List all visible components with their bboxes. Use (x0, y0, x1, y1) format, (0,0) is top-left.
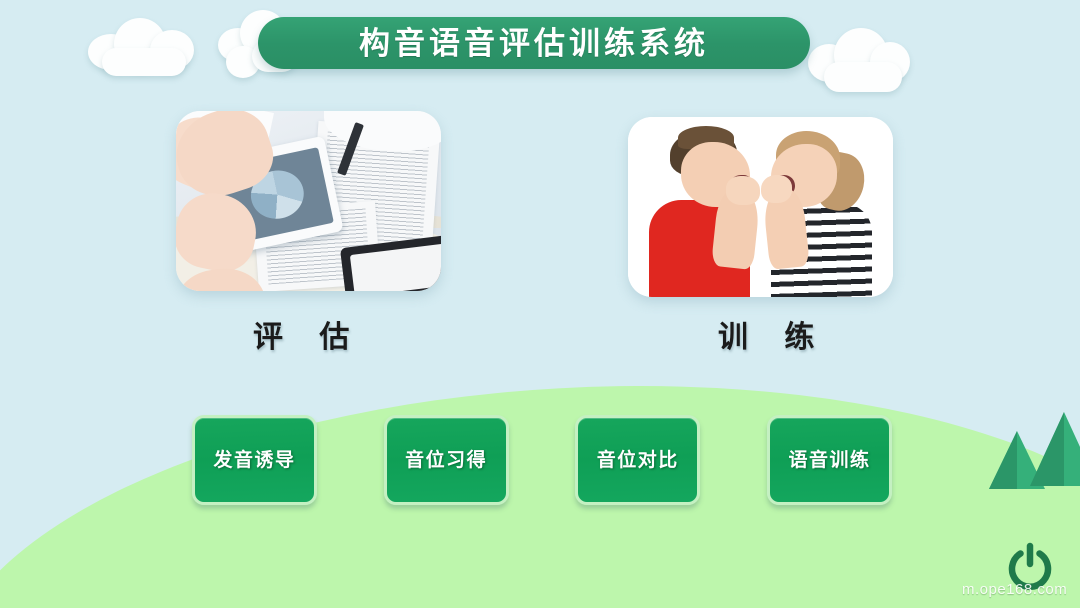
assessment-photo-card[interactable] (176, 111, 441, 291)
assessment-caption: 评 估 (253, 312, 363, 356)
btn-pronunciation-induction[interactable]: 发音诱导 (192, 415, 317, 505)
btn-phoneme-acquisition-label: 音位习得 (405, 451, 487, 470)
btn-phoneme-contrast[interactable]: 音位对比 (575, 415, 700, 505)
btn-speech-training[interactable]: 语音训练 (767, 415, 892, 505)
btn-speech-training-label: 语音训练 (788, 451, 870, 470)
training-photo (628, 117, 893, 297)
btn-phoneme-contrast-label: 音位对比 (597, 451, 679, 470)
page-title: 构音语音评估训练系统 (359, 28, 709, 59)
training-caption: 训 练 (718, 312, 828, 356)
app-root: 构音语音评估训练系统 (0, 0, 1080, 608)
mountain-small-shade-icon (989, 431, 1017, 489)
app-title-bar: 构音语音评估训练系统 (258, 17, 810, 69)
btn-phoneme-acquisition[interactable]: 音位习得 (384, 415, 509, 505)
site-watermark: m.ope168.com (962, 581, 1067, 598)
mountain-large-shade-icon (1030, 412, 1064, 486)
assessment-photo (176, 111, 441, 291)
btn-pronunciation-induction-label: 发音诱导 (213, 451, 295, 470)
action-button-row: 发音诱导 音位习得 音位对比 语音训练 (192, 415, 892, 511)
training-photo-card[interactable] (628, 117, 893, 297)
